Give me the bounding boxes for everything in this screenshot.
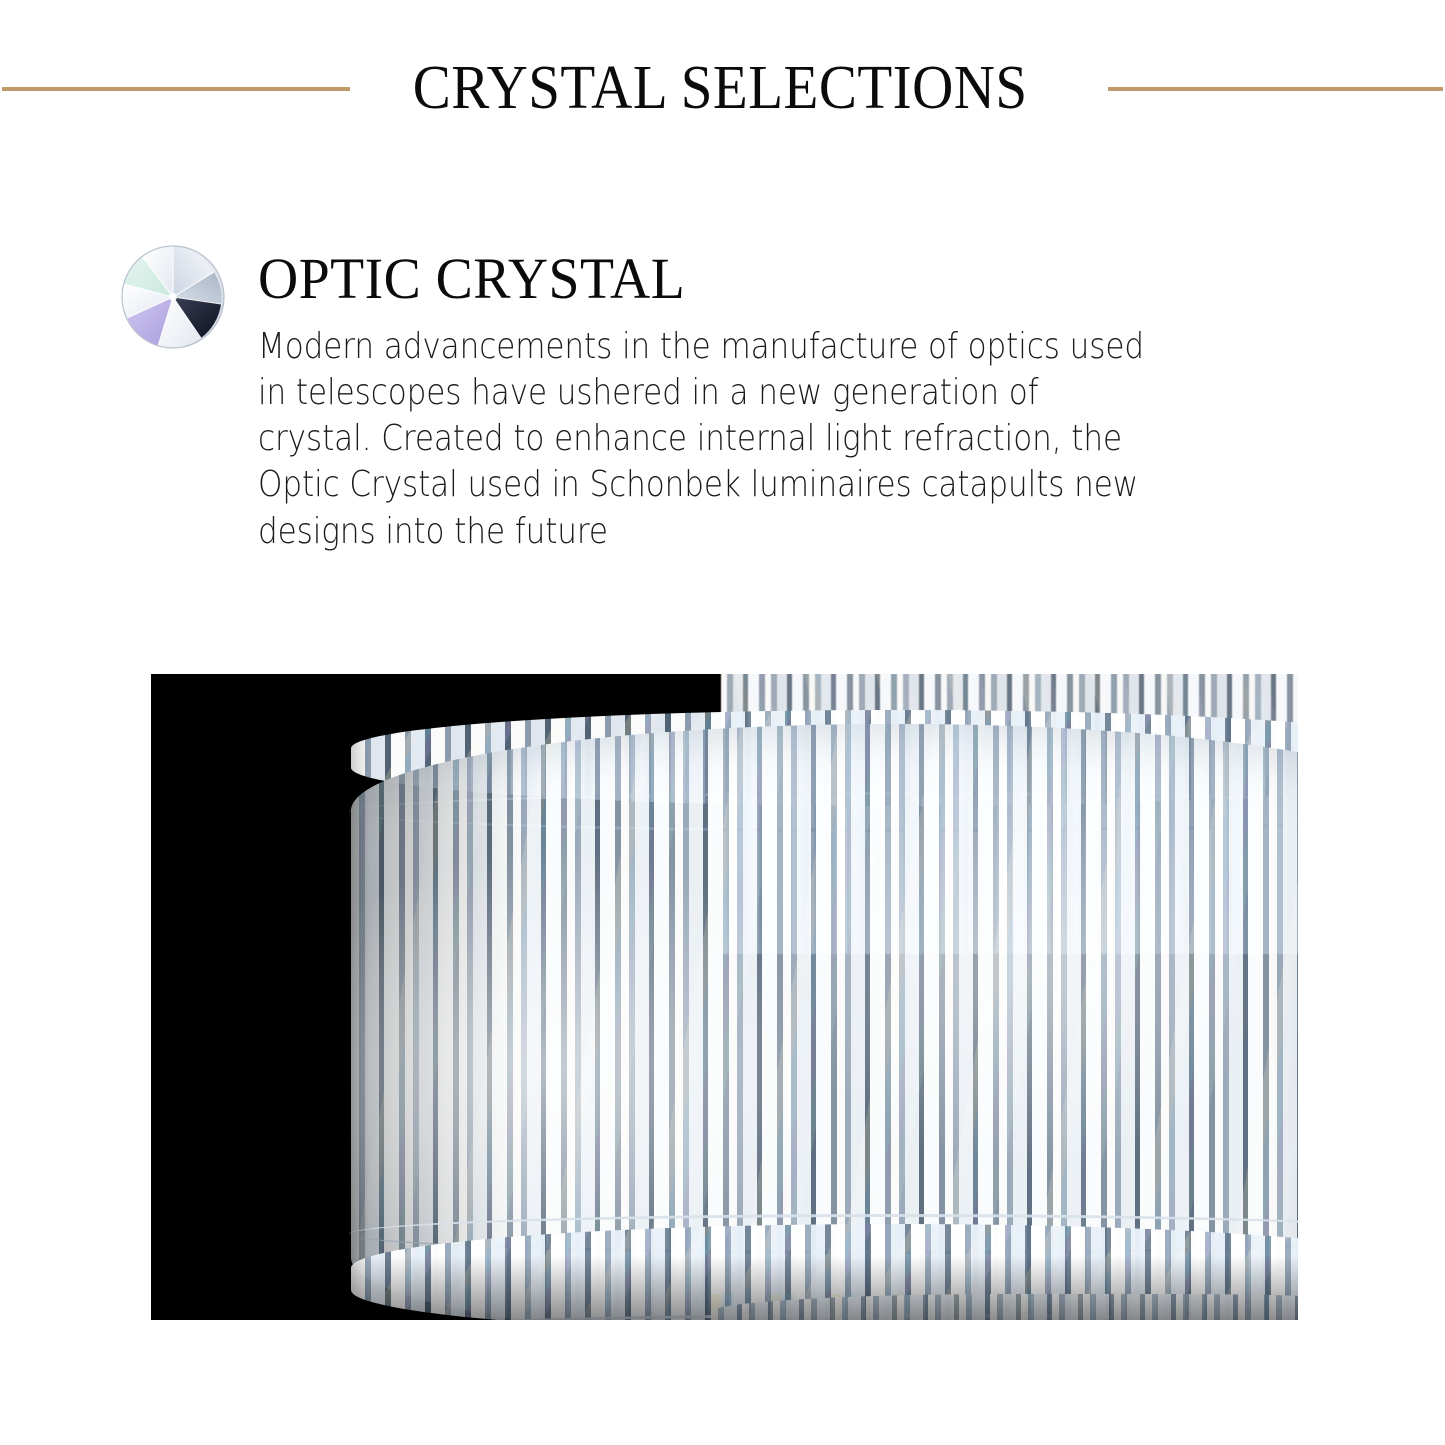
section-title: OPTIC CRYSTAL <box>258 250 1276 308</box>
page-header: CRYSTAL SELECTIONS <box>0 0 1445 150</box>
optic-crystal-chandelier-photo <box>151 674 1298 1320</box>
chandelier-illustration <box>291 674 1298 1320</box>
optic-crystal-section: OPTIC CRYSTAL Modern advancements in the… <box>118 238 1318 555</box>
photo-stage <box>151 674 1298 1320</box>
section-body-text: Modern advancements in the manufacture o… <box>258 324 1151 555</box>
page-title: CRYSTAL SELECTIONS <box>413 57 1028 119</box>
crystal-tier-lower <box>711 1294 1298 1320</box>
decorative-rule-right <box>1108 87 1443 91</box>
decorative-rule-left <box>2 87 350 91</box>
section-text-column: OPTIC CRYSTAL Modern advancements in the… <box>258 238 1318 555</box>
crystal-rivoli-icon <box>118 242 228 352</box>
